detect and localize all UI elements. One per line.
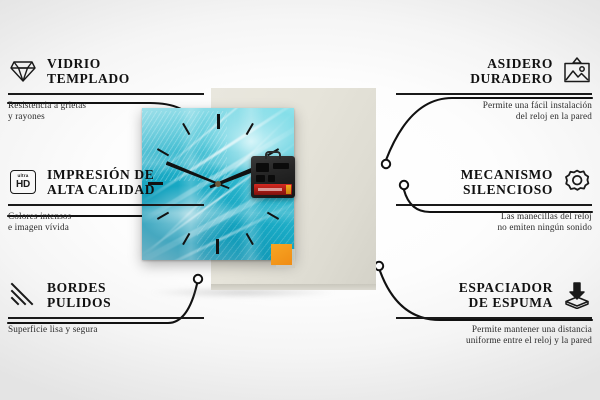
feature-description-line1: Permite mantener una distancia [396,324,592,335]
mechanism-detail [256,175,265,182]
feature-title: BORDES PULIDOS [47,280,111,310]
divider [396,317,592,319]
feature-header: ultra HD IMPRESIÓN DE ALTA CALIDAD [8,163,204,201]
ultra-hd-badge-icon: ultra HD [8,167,38,197]
feature-description-line1: Superficie lisa y segura [8,324,204,335]
divider [396,93,592,95]
diamond-icon [8,56,38,86]
feature-description-line2: y rayones [8,111,204,122]
hd-badge: ultra HD [10,170,36,194]
infographic-canvas: VIDRIO TEMPLADO Resistencia a grietas y … [0,0,600,400]
feature-espaciador-de-espuma: ESPACIADOR DE ESPUMA Permite mantener un… [396,276,592,346]
feature-title: ESPACIADOR DE ESPUMA [459,280,553,310]
feature-title: ASIDERO DURADERO [470,56,553,86]
mechanism-detail [273,163,289,169]
feature-description-line2: del reloj en la pared [396,111,592,122]
connector-dot-asidero [382,160,390,168]
feature-description-line1: Colores intensos [8,211,204,222]
arrow-down-pad-icon [562,280,592,310]
back-panel-edge [211,284,376,290]
divider [8,93,204,95]
feature-description-line1: Las manecillas del reloj [396,211,592,222]
feature-description-line2: e imagen vívida [8,222,204,233]
feature-impresion-alta-calidad: ultra HD IMPRESIÓN DE ALTA CALIDAD Color… [8,163,204,233]
feature-asidero-duradero: ASIDERO DURADERO Permite una fácil insta… [396,52,592,122]
clock-tick [217,184,219,254]
battery-label [258,188,282,191]
connector-dot-espaciador [375,262,383,270]
feature-description-line1: Resistencia a grietas [8,100,204,111]
feature-description-line2: no emiten ningún sonido [396,222,592,233]
feature-header: VIDRIO TEMPLADO [8,52,204,90]
divider [8,317,204,319]
mechanism-battery [254,184,292,195]
feature-header: BORDES PULIDOS [8,276,204,314]
feature-title: IMPRESIÓN DE ALTA CALIDAD [47,167,155,197]
feature-header: ESPACIADOR DE ESPUMA [396,276,592,314]
feature-bordes-pulidos: BORDES PULIDOS Superficie lisa y segura [8,276,204,335]
battery-terminal [286,185,291,194]
clock-center-cap [215,181,221,187]
clock-tick [217,114,219,184]
mechanism-detail [268,175,275,182]
divider [8,204,204,206]
mechanism-detail [256,163,269,172]
feature-header: ASIDERO DURADERO [396,52,592,90]
divider [396,204,592,206]
foam-spacer [271,244,292,265]
feature-mecanismo-silencioso: MECANISMO SILENCIOSO Las manecillas del … [396,163,592,233]
feature-vidrio-templado: VIDRIO TEMPLADO Resistencia a grietas y … [8,52,204,122]
diagonal-lines-icon [8,280,38,310]
feature-header: MECANISMO SILENCIOSO [396,163,592,201]
framed-picture-icon [562,56,592,86]
feature-description-line2: uniforme entre el reloj y la pared [396,335,592,346]
clock-mechanism [251,156,295,198]
feature-title: MECANISMO SILENCIOSO [461,167,553,197]
mechanism-hanger [265,151,281,159]
feature-description-line1: Permite una fácil instalación [396,100,592,111]
hd-badge-large-text: HD [16,180,30,190]
feature-title: VIDRIO TEMPLADO [47,56,130,86]
gear-icon [562,167,592,197]
